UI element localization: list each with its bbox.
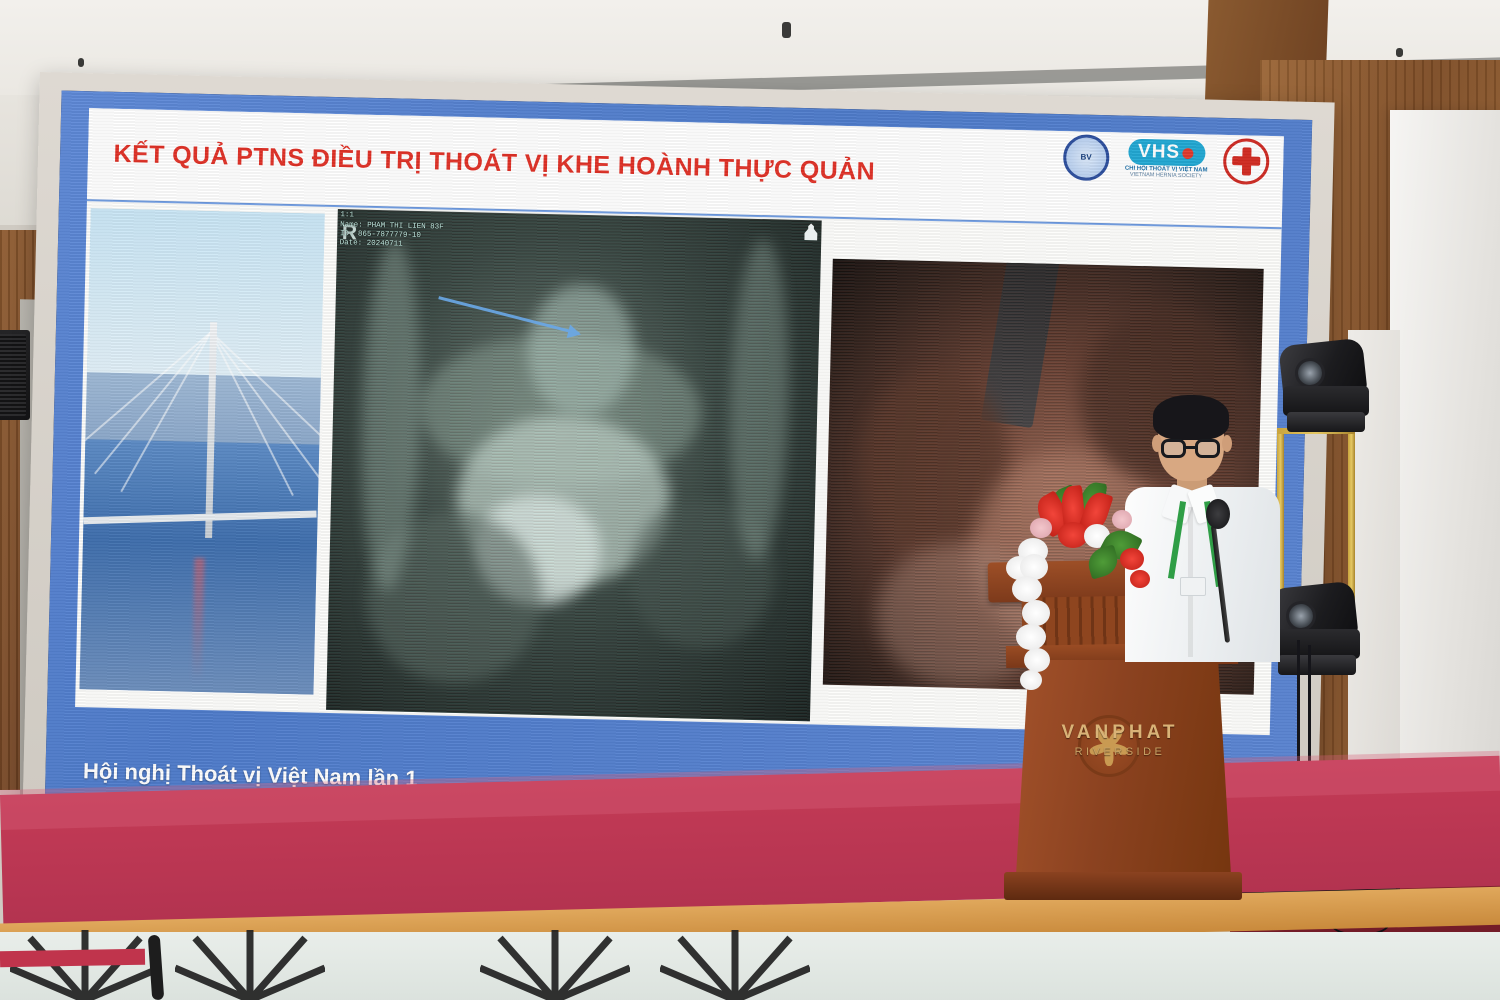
xray-annotation-arrow bbox=[439, 296, 581, 335]
slide-title: KẾT QUẢ PTNS ĐIỀU TRỊ THOÁT VỊ KHE HOÀNH… bbox=[87, 139, 875, 187]
orchid-spray bbox=[1006, 554, 1066, 714]
microphone-icon bbox=[1206, 499, 1230, 529]
ceiling-fixture bbox=[1396, 48, 1403, 57]
light-power-cable bbox=[1297, 640, 1300, 770]
vhs-logo-icon: VHS bbox=[1128, 139, 1206, 167]
xray-image: R 1:1 Name: PHAM THI LIEN 83F ID: 865-78… bbox=[326, 209, 822, 721]
glasses-icon bbox=[1195, 439, 1220, 458]
logo-row: BV VHS CHI HỘI THOÁT VỊ VIỆT NAM VIETNAM… bbox=[1063, 134, 1271, 185]
conference-hall-photo: KẾT QUẢ PTNS ĐIỀU TRỊ THOÁT VỊ KHE HOÀNH… bbox=[0, 0, 1500, 1000]
red-cross-logo bbox=[1223, 138, 1270, 185]
moving-head-light bbox=[1272, 583, 1362, 679]
moving-head-light bbox=[1281, 340, 1371, 436]
light-power-cable bbox=[1308, 645, 1311, 770]
hospital-emblem-icon: BV bbox=[1063, 134, 1110, 181]
xray-study-date: Date: 20240711 bbox=[340, 240, 444, 252]
vhs-logo-text: VHS bbox=[1138, 141, 1181, 163]
xray-dicom-overlay: 1:1 Name: PHAM THI LIEN 83F ID: 865-7877… bbox=[340, 211, 444, 251]
speaker-grill bbox=[0, 334, 26, 416]
vhs-subtitle-en: VIETNAM HERNIA SOCIETY bbox=[1130, 172, 1202, 180]
decorative-panel bbox=[660, 928, 810, 1000]
bridge-photo bbox=[80, 209, 324, 695]
glasses-bridge bbox=[1185, 446, 1196, 449]
red-cross-icon bbox=[1223, 138, 1270, 185]
hospital-emblem-text: BV bbox=[1080, 153, 1091, 162]
flower-arrangement bbox=[1000, 482, 1190, 652]
podium-brand-line1: VANPHAT bbox=[1040, 722, 1200, 744]
presenter-ear bbox=[1222, 435, 1232, 452]
surgical-instrument bbox=[980, 259, 1060, 428]
ceiling-fixture bbox=[782, 22, 791, 38]
podium-base bbox=[1004, 872, 1242, 900]
podium-branding: VANPHAT RIVERSIDE bbox=[1040, 722, 1200, 758]
glasses-icon bbox=[1161, 439, 1186, 458]
decorative-panel bbox=[480, 928, 630, 1000]
patient-orientation-icon bbox=[804, 223, 817, 240]
ceiling-fixture bbox=[78, 58, 84, 67]
presenter-hair bbox=[1153, 395, 1229, 440]
podium-brand-line2: RIVERSIDE bbox=[1040, 746, 1200, 758]
chair-seat bbox=[0, 949, 145, 968]
hospital-emblem-logo: BV bbox=[1063, 134, 1110, 181]
decorative-panel bbox=[175, 928, 325, 1000]
vhs-logo: VHS CHI HỘI THOÁT VỊ VIỆT NAM VIETNAM HE… bbox=[1125, 139, 1209, 180]
left-speaker-cabinet bbox=[0, 330, 30, 420]
